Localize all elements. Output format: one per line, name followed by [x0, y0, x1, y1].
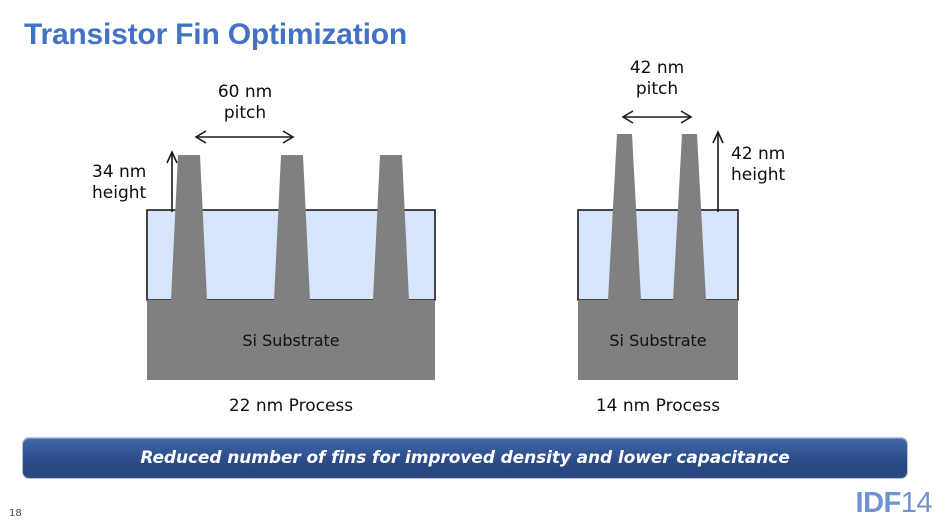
- fin-right-2: [673, 134, 706, 300]
- oxide-box-right: [578, 210, 738, 300]
- diagram-stage: 60 nm pitch 34 nm height Si Substrate 22…: [0, 0, 950, 430]
- idf-logo-year: 14: [901, 487, 932, 519]
- page-number: 18: [9, 508, 22, 519]
- summary-banner: Reduced number of fins for improved dens…: [22, 437, 908, 479]
- right-diagram-svg: [0, 0, 950, 430]
- height-arrow-right: [713, 132, 723, 212]
- idf-logo: IDF14: [856, 489, 932, 518]
- right-diagram: 42 nm pitch 42 nm height Si Substrate 14…: [0, 0, 950, 430]
- fin-right-1: [608, 134, 641, 300]
- si-substrate-label-right: Si Substrate: [578, 331, 738, 350]
- summary-banner-text: Reduced number of fins for improved dens…: [140, 448, 789, 468]
- pitch-label-right: 42 nm pitch: [607, 58, 707, 99]
- process-caption-right: 14 nm Process: [578, 396, 738, 416]
- pitch-arrow-right: [623, 111, 691, 123]
- idf-logo-mark: IDF: [856, 487, 901, 519]
- height-label-right: 42 nm height: [731, 144, 817, 185]
